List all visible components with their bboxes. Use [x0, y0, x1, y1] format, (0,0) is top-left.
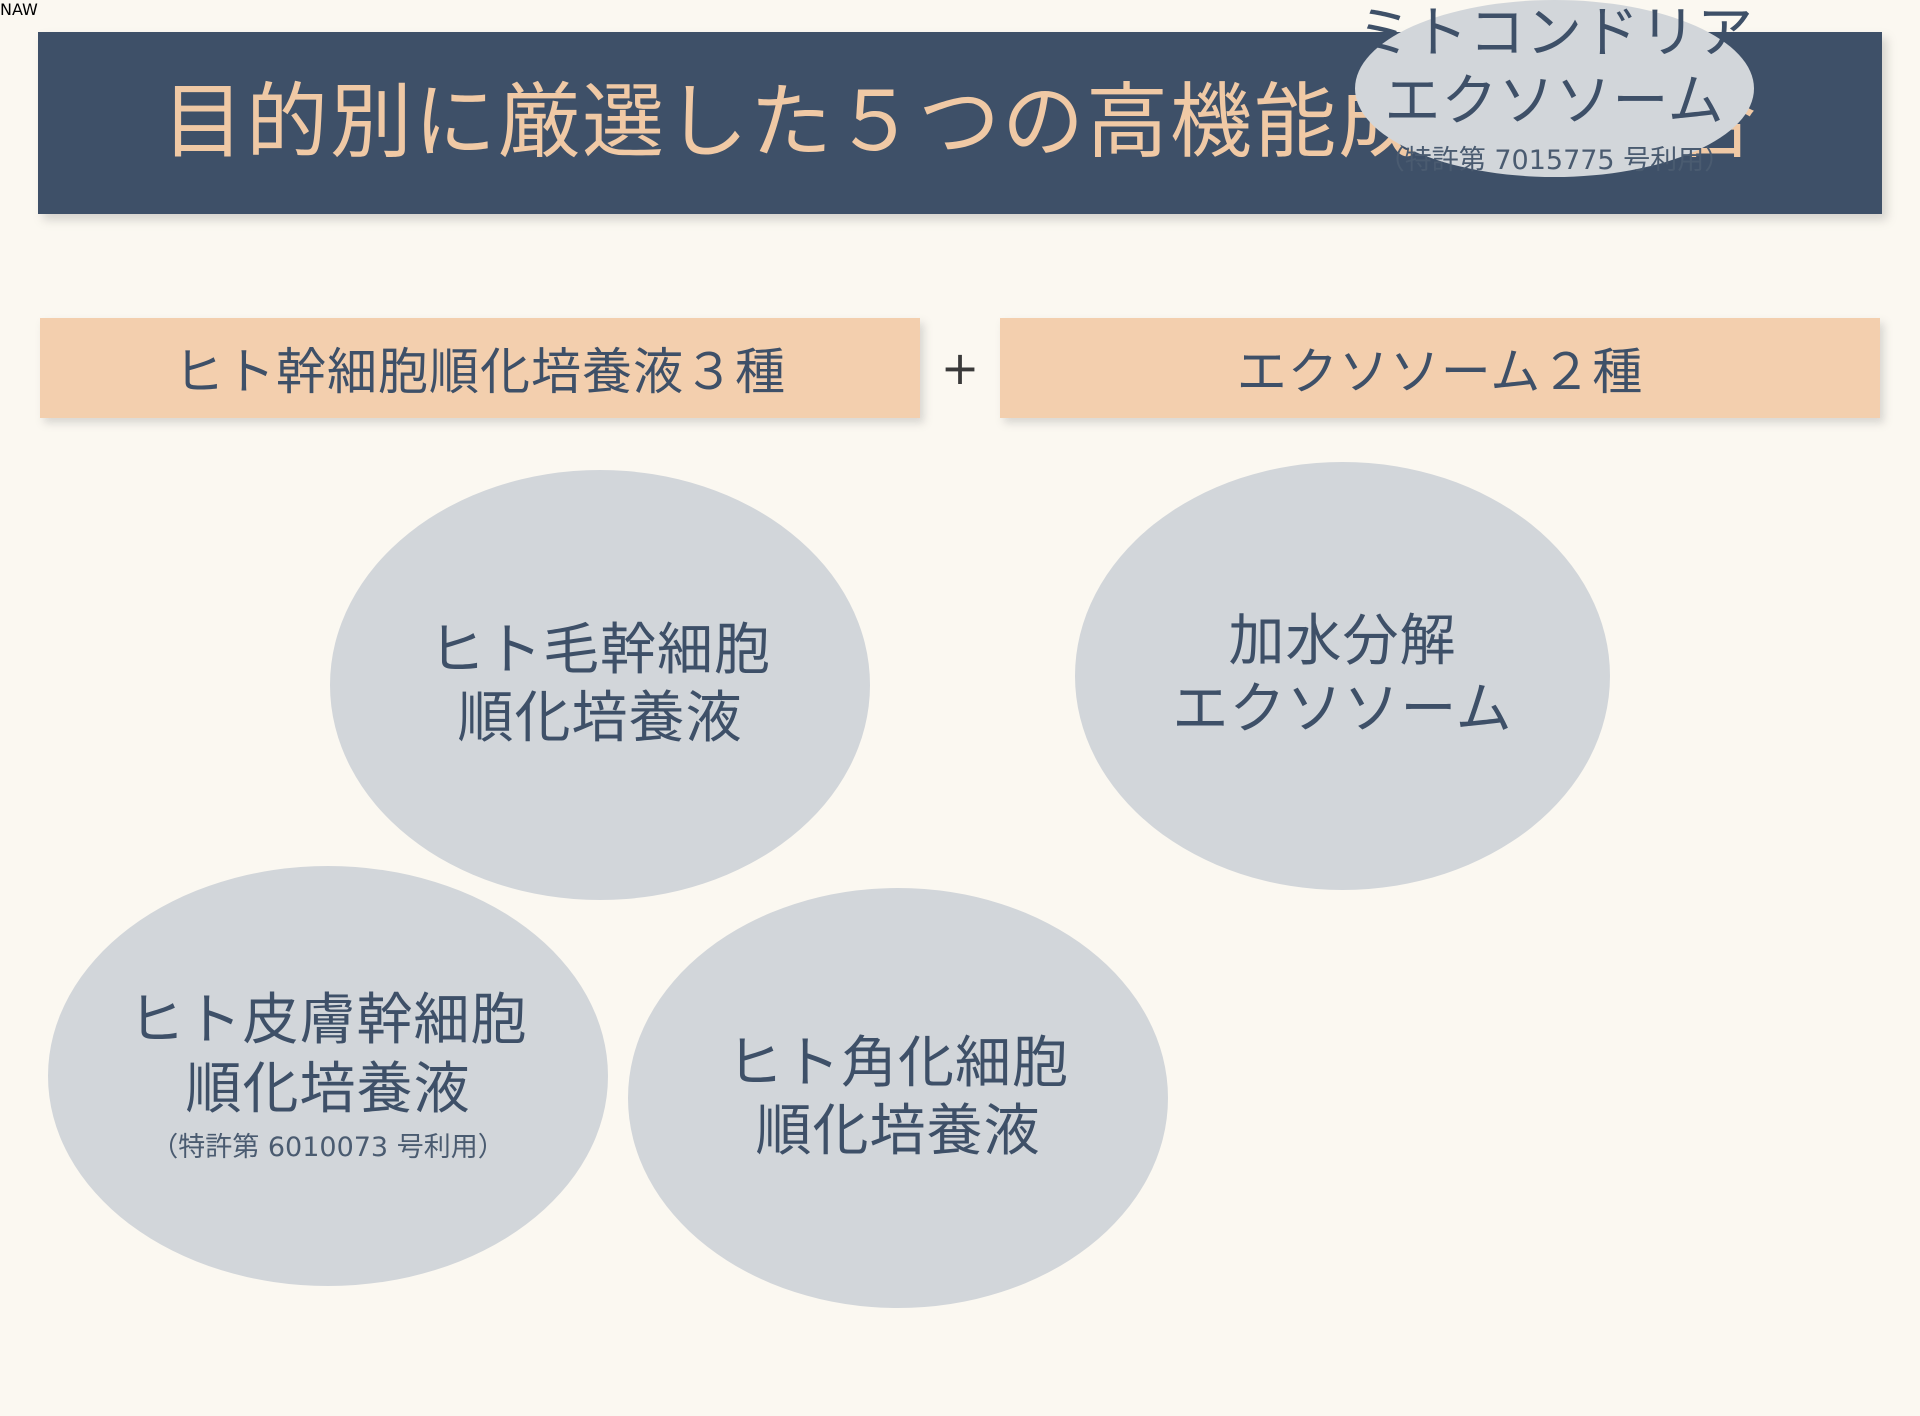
category-label-right: エクソソーム２種	[1237, 332, 1644, 404]
patent-note: （特許第 7015775 号利用）	[1378, 145, 1731, 177]
bubble-line-2: 順化培養液	[186, 1056, 471, 1124]
bubble-line-2: 順化培養液	[458, 685, 743, 753]
bubble-human-skin-stem-cell: ヒト皮膚幹細胞 順化培養液 （特許第 6010073 号利用）	[48, 866, 608, 1286]
slide-canvas: 目的別に厳選した５つの高機能成分を配合 ヒト幹細胞順化培養液３種 + エクソソー…	[0, 0, 1920, 1416]
logo-text: NAW	[0, 0, 38, 19]
bubble-line-2: エクソソーム	[1384, 68, 1724, 136]
bubble-hydrolyzed-exosome: 加水分解 エクソソーム	[1075, 462, 1610, 890]
bubble-line-1: ヒト角化細胞	[727, 1030, 1069, 1098]
bubble-line-1: ミトコンドリア	[1355, 0, 1754, 68]
bubble-line-2: 順化培養液	[756, 1098, 1041, 1166]
bubble-human-keratinocyte: ヒト角化細胞 順化培養液	[628, 888, 1168, 1308]
category-label-left: ヒト幹細胞順化培養液３種	[174, 332, 786, 404]
bubble-line-1: ヒト毛幹細胞	[429, 617, 771, 685]
bubble-line-1: ヒト皮膚幹細胞	[129, 987, 528, 1055]
patent-note: （特許第 6010073 号利用）	[151, 1132, 504, 1164]
category-bar-exosome: エクソソーム２種	[1000, 318, 1880, 418]
bubble-mitochondria-exosome: ミトコンドリア エクソソーム （特許第 7015775 号利用）	[1355, 0, 1754, 177]
bubble-line-2: エクソソーム	[1172, 676, 1512, 744]
bubble-line-1: 加水分解	[1229, 608, 1457, 676]
category-bar-stem-cell-media: ヒト幹細胞順化培養液３種	[40, 318, 920, 418]
bubble-human-hair-stem-cell: ヒト毛幹細胞 順化培養液	[330, 470, 870, 900]
plus-icon: +	[920, 318, 1000, 418]
